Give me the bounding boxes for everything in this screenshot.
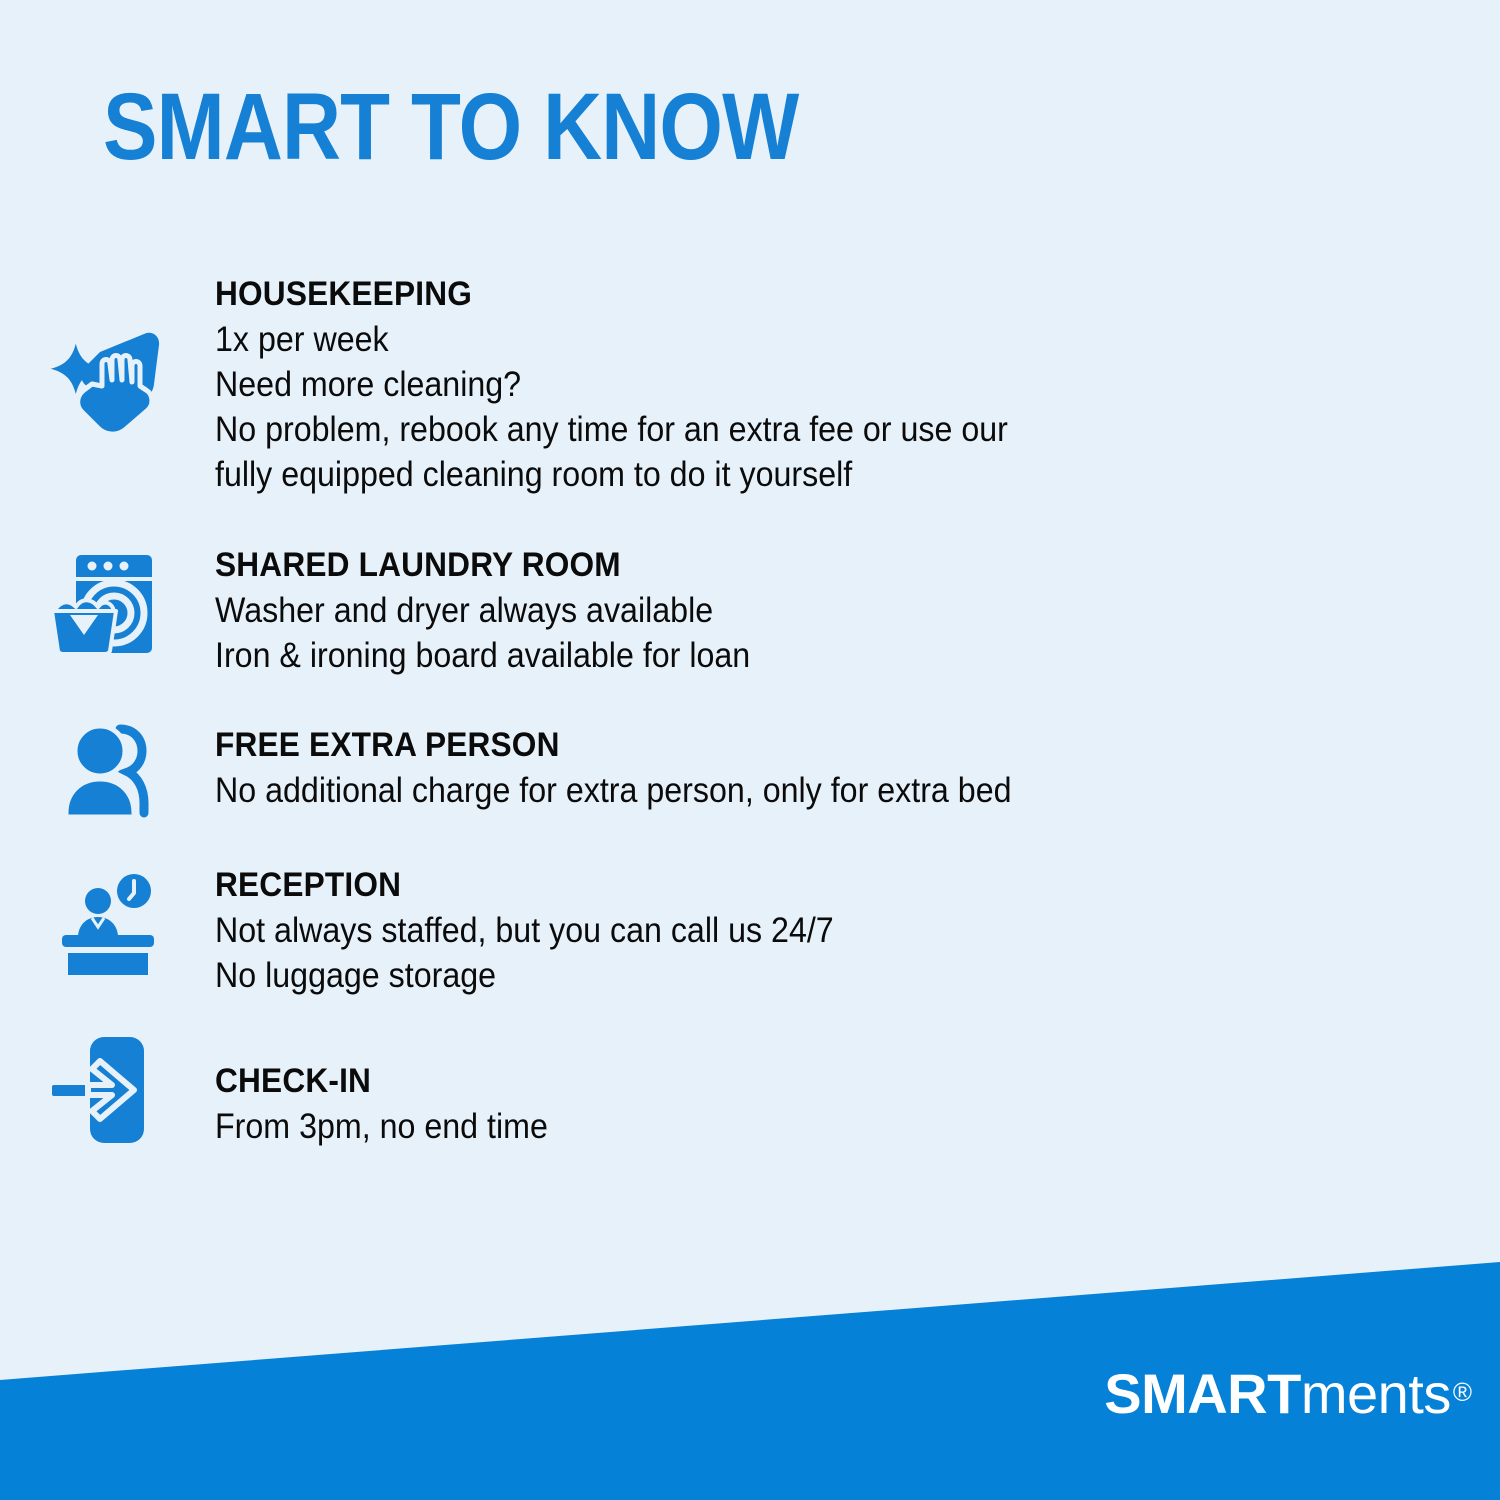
cleaning-hand-icon — [48, 328, 168, 438]
list-item: CHECK-IN From 3pm, no end time — [0, 1033, 1500, 1150]
icon-cell — [0, 863, 215, 979]
list-item: RECEPTION Not always staffed, but you ca… — [0, 863, 1500, 999]
two-people-icon — [48, 721, 168, 821]
icon-cell — [0, 1033, 215, 1148]
reception-desk-icon — [48, 869, 168, 979]
text-cell: SHARED LAUNDRY ROOM Washer and dryer alw… — [215, 543, 797, 679]
item-line: Washer and dryer always available — [215, 589, 750, 634]
item-line: Iron & ironing board available for loan — [215, 634, 750, 679]
check-in-door-arrow-icon — [48, 1033, 168, 1148]
registered-trademark-icon: ® — [1453, 1377, 1472, 1407]
item-line: No problem, rebook any time for an extra… — [215, 408, 1008, 453]
icon-cell — [0, 272, 215, 438]
list-item: HOUSEKEEPING 1x per week Need more clean… — [0, 272, 1500, 497]
info-list: HOUSEKEEPING 1x per week Need more clean… — [0, 272, 1500, 1150]
text-cell: FREE EXTRA PERSON No additional charge f… — [215, 719, 1081, 814]
item-line: 1x per week — [215, 318, 1008, 363]
washing-machine-icon — [48, 549, 168, 659]
item-line: From 3pm, no end time — [215, 1105, 548, 1150]
list-item: FREE EXTRA PERSON No additional charge f… — [0, 719, 1500, 821]
list-item: SHARED LAUNDRY ROOM Washer and dryer alw… — [0, 543, 1500, 679]
icon-cell — [0, 543, 215, 659]
item-title: FREE EXTRA PERSON — [215, 725, 1020, 765]
text-cell: HOUSEKEEPING 1x per week Need more clean… — [215, 272, 1077, 497]
item-line: No additional charge for extra person, o… — [215, 769, 1012, 814]
item-line: No luggage storage — [215, 954, 834, 999]
logo-smart-text: SMART — [1104, 1362, 1301, 1425]
logo-ments-text: ments — [1301, 1362, 1451, 1425]
item-line: Not always staffed, but you can call us … — [215, 909, 834, 954]
item-title: HOUSEKEEPING — [215, 274, 1017, 314]
item-line: Need more cleaning? — [215, 363, 1008, 408]
item-title: RECEPTION — [215, 865, 840, 905]
text-cell: CHECK-IN From 3pm, no end time — [215, 1033, 577, 1150]
smartments-logo: SMARTments® — [1104, 1366, 1470, 1422]
icon-cell — [0, 719, 215, 821]
text-cell: RECEPTION Not always staffed, but you ca… — [215, 863, 888, 999]
page-title: SMART TO KNOW — [103, 80, 798, 175]
item-title: SHARED LAUNDRY ROOM — [215, 545, 756, 585]
item-line: fully equipped cleaning room to do it yo… — [215, 453, 1008, 498]
item-title: CHECK-IN — [215, 1061, 551, 1101]
